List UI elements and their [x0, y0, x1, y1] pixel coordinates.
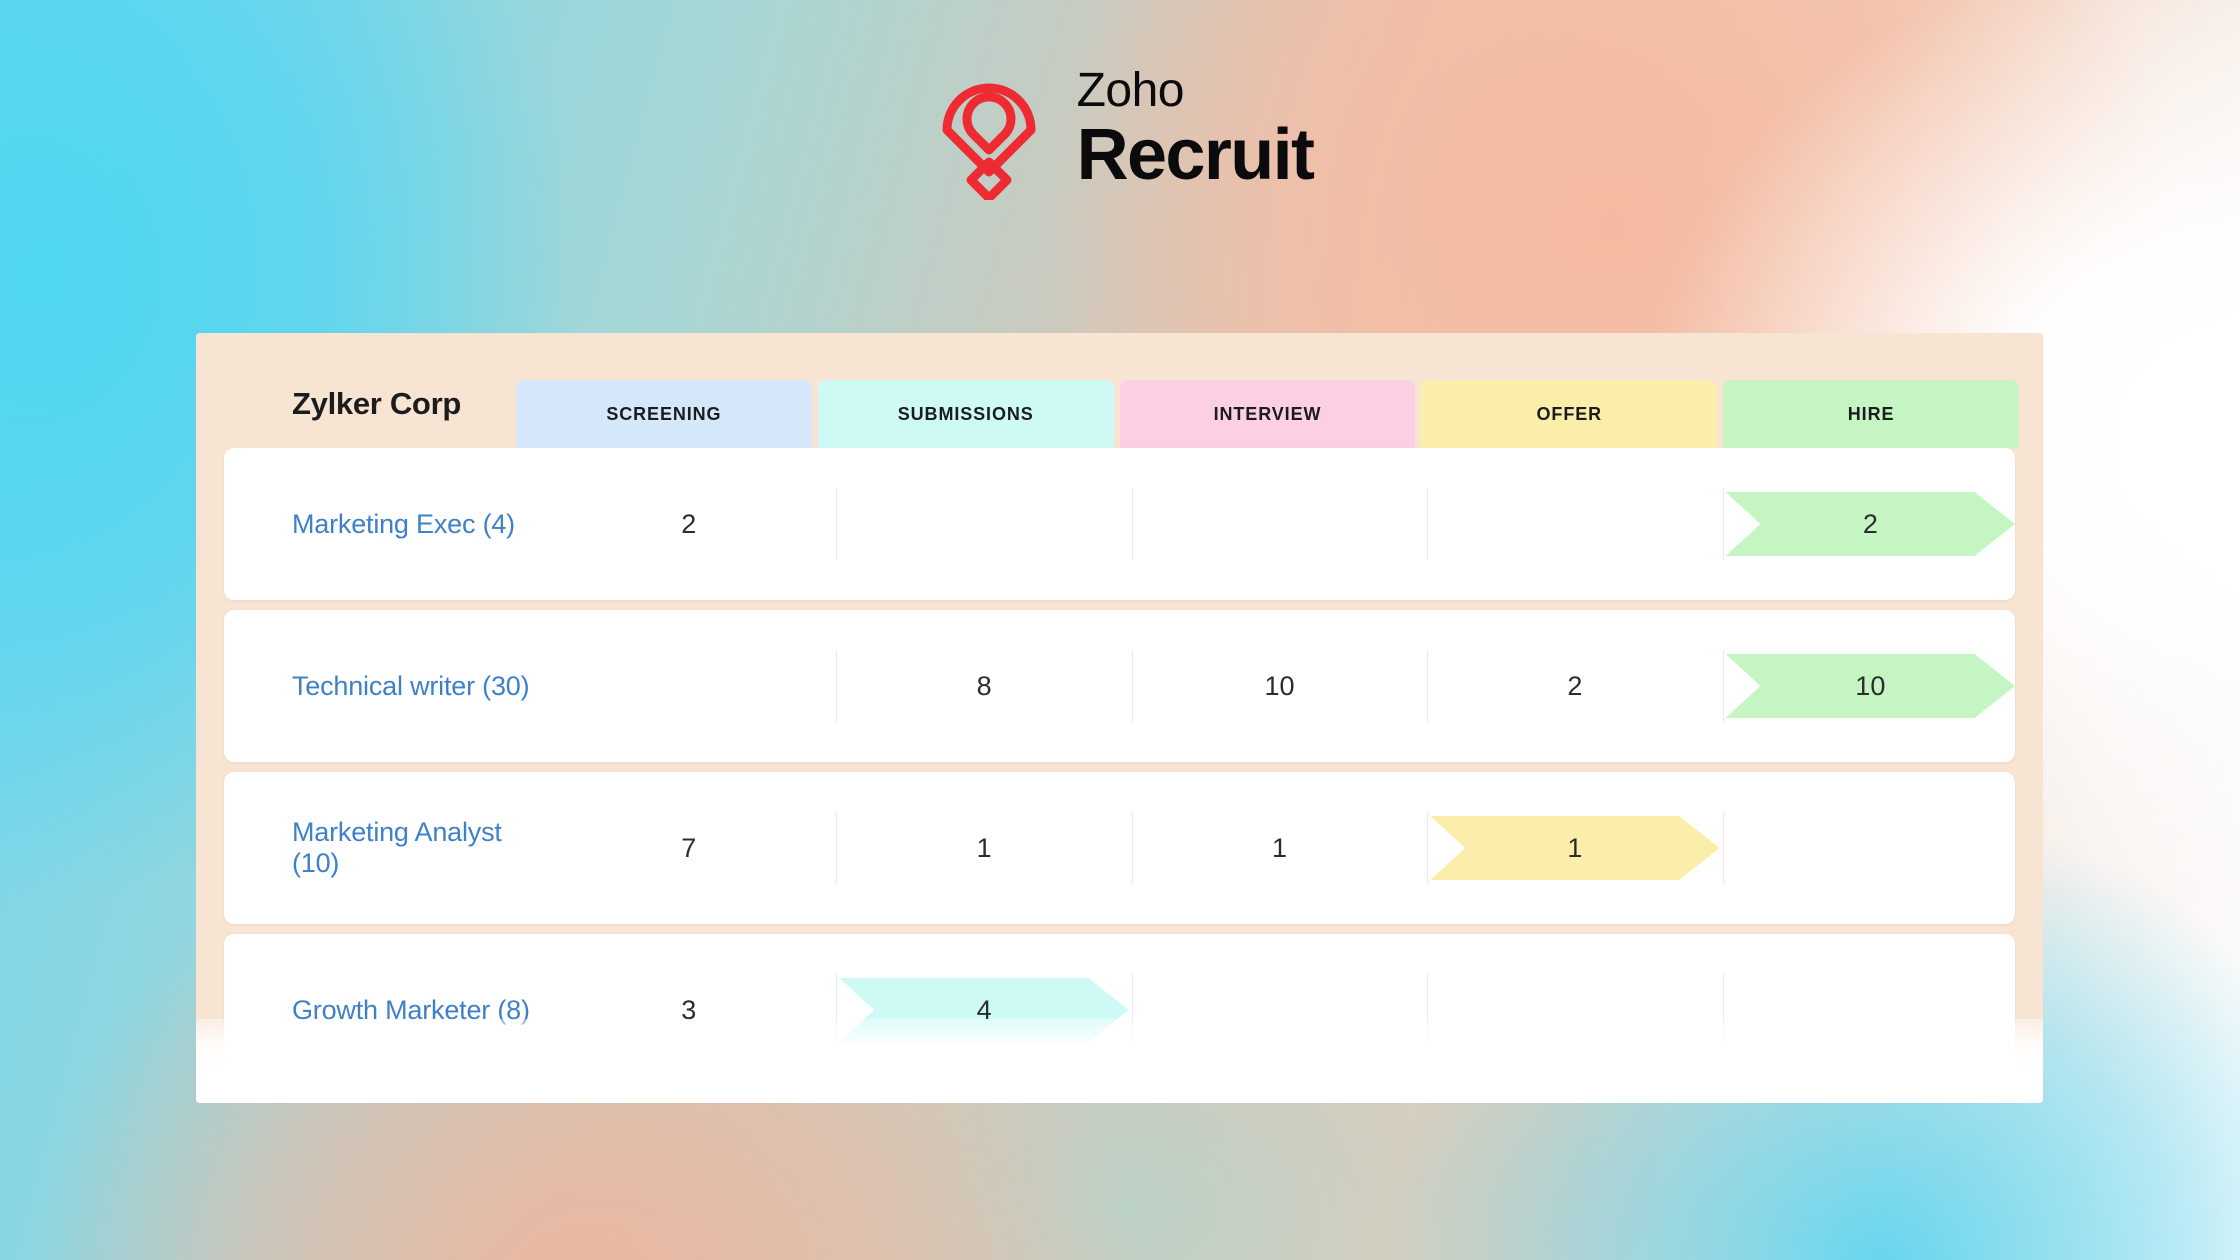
job-rows-list: Marketing Exec (4)22Technical writer (30… [196, 448, 2043, 1103]
stage-cell-interview[interactable]: 10 [1135, 610, 1424, 762]
stage-cell-screening[interactable]: 3 [544, 934, 833, 1086]
stage-cell-hire[interactable]: 10 [1726, 610, 2015, 762]
stage-cell-screening[interactable]: 2 [544, 448, 833, 600]
stage-count: 7 [681, 833, 696, 864]
job-title-cell: Marketing Analyst (10) [224, 817, 544, 879]
job-row: Marketing Exec (4)22 [224, 448, 2015, 600]
stage-cell-screening[interactable]: 7 [544, 772, 833, 924]
stage-tab-screening[interactable]: SCREENING [516, 380, 812, 448]
stage-cell-interview[interactable] [1135, 934, 1424, 1086]
stage-count: 1 [977, 833, 992, 864]
brand-name-recruit: Recruit [1077, 119, 1314, 191]
stage-cell-submissions[interactable] [839, 448, 1128, 600]
job-title-link[interactable]: Technical writer (30) [292, 671, 529, 701]
stage-tab-strip: SCREENINGSUBMISSIONSINTERVIEWOFFERHIRE [516, 380, 2019, 448]
stage-cell-offer[interactable]: 1 [1430, 772, 1719, 924]
stage-count: 2 [681, 509, 696, 540]
stage-count-badge[interactable]: 1 [1430, 816, 1719, 880]
stage-cell-screening[interactable] [544, 610, 833, 762]
stage-cell-submissions[interactable]: 8 [839, 610, 1128, 762]
job-row: Marketing Analyst (10)7111 [224, 772, 2015, 924]
stage-count: 1 [1272, 833, 1287, 864]
stage-cells: 7111 [544, 772, 2015, 924]
job-title-cell: Marketing Exec (4) [224, 509, 544, 540]
stage-tab-hire[interactable]: HIRE [1723, 380, 2019, 448]
stage-tab-offer[interactable]: OFFER [1421, 380, 1717, 448]
stage-count-badge[interactable]: 10 [1726, 654, 2015, 718]
stage-cell-hire[interactable]: 2 [1726, 448, 2015, 600]
stage-count: 3 [681, 995, 696, 1026]
stage-cell-submissions[interactable]: 4 [839, 934, 1128, 1086]
stage-tab-interview[interactable]: INTERVIEW [1120, 380, 1416, 448]
stage-cell-interview[interactable] [1135, 448, 1424, 600]
stage-cell-offer[interactable]: 2 [1430, 610, 1719, 762]
board-header-row: Zylker Corp SCREENINGSUBMISSIONSINTERVIE… [196, 333, 2043, 448]
stage-tab-submissions[interactable]: SUBMISSIONS [818, 380, 1114, 448]
stage-count-badge[interactable]: 4 [839, 978, 1128, 1042]
stage-cells: 34 [544, 934, 2015, 1086]
stage-count: 10 [1264, 671, 1294, 702]
stage-cell-interview[interactable]: 1 [1135, 772, 1424, 924]
stage-cell-submissions[interactable]: 1 [839, 772, 1128, 924]
job-row: Technical writer (30)810210 [224, 610, 2015, 762]
stage-cell-offer[interactable] [1430, 448, 1719, 600]
zoho-recruit-pin-icon [927, 58, 1051, 200]
stage-cell-offer[interactable] [1430, 934, 1719, 1086]
pipeline-board-card: Zylker Corp SCREENINGSUBMISSIONSINTERVIE… [196, 333, 2043, 1103]
stage-cells: 810210 [544, 610, 2015, 762]
job-row: Growth Marketer (8)34 [224, 934, 2015, 1086]
brand-logo: Zoho Recruit [0, 58, 2240, 200]
company-name: Zylker Corp [196, 386, 516, 448]
brand-name-zoho: Zoho [1077, 67, 1184, 115]
job-title-cell: Technical writer (30) [224, 671, 544, 702]
job-title-link[interactable]: Marketing Exec (4) [292, 509, 515, 539]
stage-count: 8 [977, 671, 992, 702]
job-title-link[interactable]: Growth Marketer (8) [292, 995, 530, 1025]
stage-cells: 22 [544, 448, 2015, 600]
stage-count-badge[interactable]: 2 [1726, 492, 2015, 556]
stage-count: 2 [1567, 671, 1582, 702]
job-title-link[interactable]: Marketing Analyst (10) [292, 817, 502, 878]
job-title-cell: Growth Marketer (8) [224, 995, 544, 1026]
stage-cell-hire[interactable] [1726, 772, 2015, 924]
brand-wordmark: Zoho Recruit [1077, 67, 1314, 191]
stage-cell-hire[interactable] [1726, 934, 2015, 1086]
